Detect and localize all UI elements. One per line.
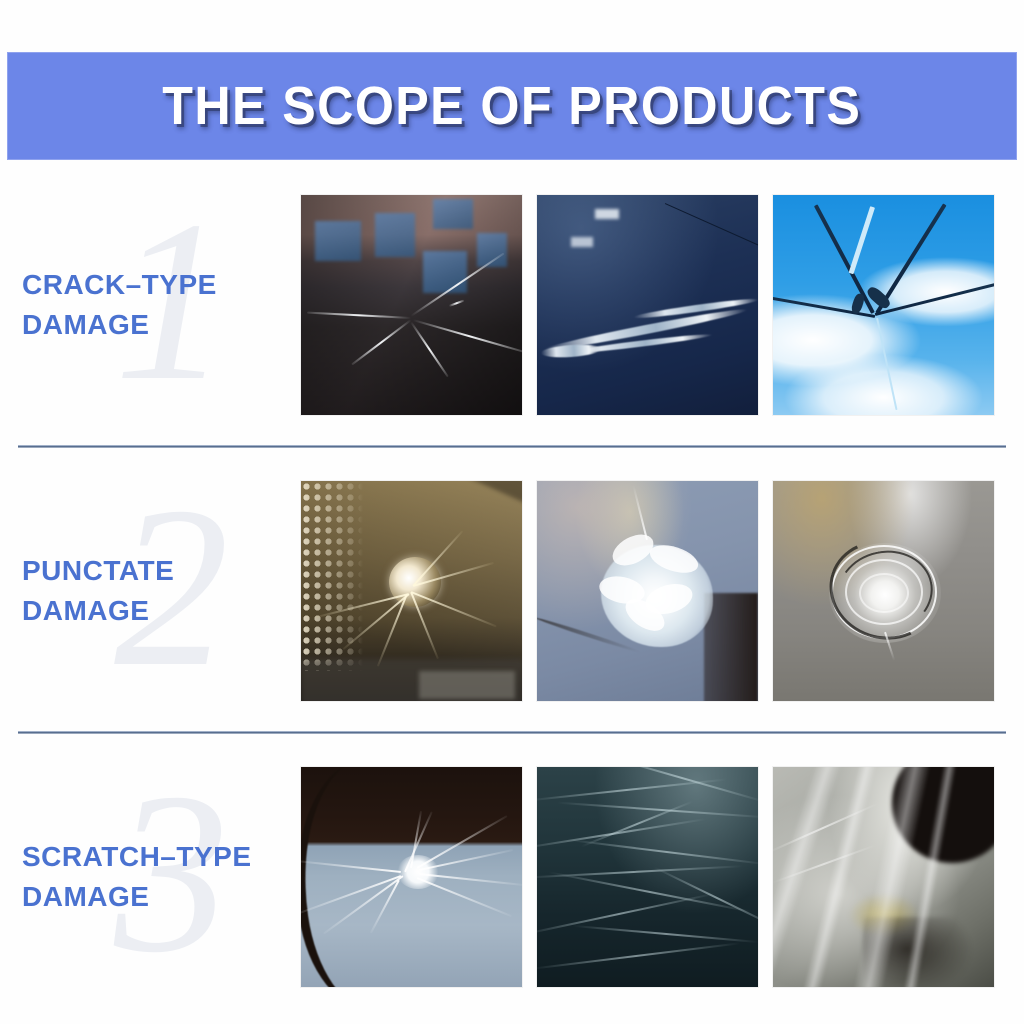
row-label-block: 3 SCRATCH–TYPE DAMAGE	[22, 764, 290, 990]
photo-bullseye-chip-gray-glass	[773, 481, 994, 701]
row-label-line-2: DAMAGE	[22, 591, 290, 631]
damage-photo-tile[interactable]	[300, 194, 523, 416]
row-label-line-2: DAMAGE	[22, 305, 290, 345]
photo-starburst-scratches	[301, 767, 522, 987]
row-label-line-2: DAMAGE	[22, 877, 290, 917]
row-label: SCRATCH–TYPE DAMAGE	[22, 837, 290, 917]
damage-photo-tile[interactable]	[772, 194, 995, 416]
header-banner: THE SCOPE OF PRODUCTS	[7, 52, 1017, 160]
row-label: CRACK–TYPE DAMAGE	[22, 265, 290, 345]
row-label-block: 2 PUNCTATE DAMAGE	[22, 478, 290, 704]
row-label-block: 1 CRACK–TYPE DAMAGE	[22, 192, 290, 418]
damage-photo-tile[interactable]	[772, 480, 995, 702]
damage-row-crack: 1 CRACK–TYPE DAMAGE	[0, 192, 1024, 418]
photo-rosette-impact-slate-glass	[537, 481, 758, 701]
photo-scratched-teal-glass	[537, 767, 758, 987]
photo-cracked-glass-building	[301, 195, 522, 415]
row-label-line-1: PUNCTATE	[22, 555, 174, 586]
page-title: THE SCOPE OF PRODUCTS	[163, 79, 862, 133]
product-scope-infographic: THE SCOPE OF PRODUCTS 1 CRACK–TYPE DAMAG…	[0, 0, 1024, 1024]
row-divider	[18, 731, 1006, 734]
photo-scuffed-headlight-lens	[773, 767, 994, 987]
photo-long-crack-navy-glass	[537, 195, 758, 415]
row-label-line-1: SCRATCH–TYPE	[22, 841, 252, 872]
row-label: PUNCTATE DAMAGE	[22, 551, 290, 631]
damage-photo-tile[interactable]	[536, 194, 759, 416]
photo-chip-gold-glass	[301, 481, 522, 701]
damage-row-scratch: 3 SCRATCH–TYPE DAMAGE	[0, 764, 1024, 990]
damage-photo-tile[interactable]	[300, 480, 523, 702]
damage-photo-tile[interactable]	[536, 766, 759, 988]
damage-row-punctate: 2 PUNCTATE DAMAGE	[0, 478, 1024, 704]
row-divider	[18, 445, 1006, 448]
row-label-line-1: CRACK–TYPE	[22, 269, 217, 300]
photo-cracks-on-sky	[773, 195, 994, 415]
damage-photo-tile[interactable]	[772, 766, 995, 988]
damage-photo-tile[interactable]	[300, 766, 523, 988]
damage-photo-tile[interactable]	[536, 480, 759, 702]
